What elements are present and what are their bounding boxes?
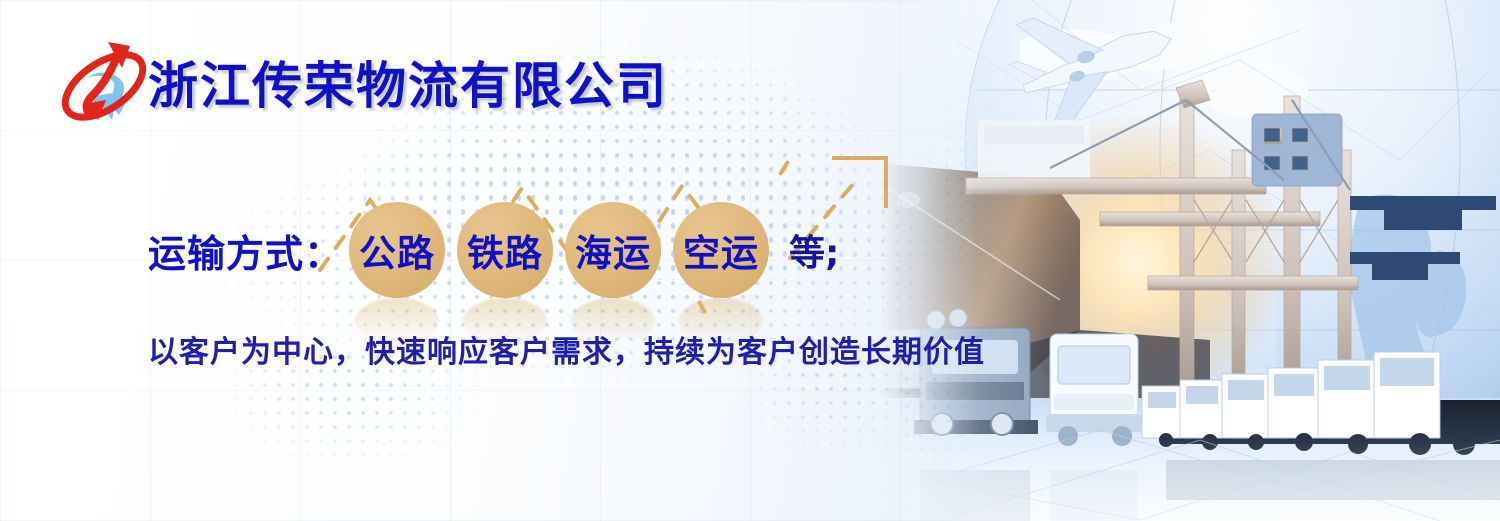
transport-mode-label: 铁路 — [467, 223, 543, 277]
page-title: 浙江传荣物流有限公司 — [148, 46, 668, 118]
transport-mode-road[interactable]: 公路 — [349, 202, 445, 298]
transport-mode-label: 海运 — [575, 223, 651, 277]
transport-label: 运输方式： — [148, 223, 343, 278]
swoosh-arrow-logo-icon — [52, 34, 156, 138]
logistics-photo-collage — [880, 0, 1500, 521]
transport-mode-air[interactable]: 空运 — [673, 202, 769, 298]
transport-mode-rail[interactable]: 铁路 — [457, 202, 553, 298]
company-logo — [52, 34, 156, 138]
transport-mode-label: 公路 — [359, 223, 435, 277]
transport-mode-label: 空运 — [683, 223, 759, 277]
transport-modes-row: 运输方式： 公路 铁路 海运 空运 等; — [148, 202, 839, 298]
transport-mode-sea[interactable]: 海运 — [565, 202, 661, 298]
transport-suffix: 等; — [789, 224, 839, 276]
logistics-banner: 浙江传荣物流有限公司 运输方式： 公路 铁路 海运 空运 等; 以客户为中心，快… — [0, 0, 1500, 521]
truck-fleet-icon — [1046, 334, 1142, 446]
tagline: 以客户为中心，快速响应客户需求，持续为客户创造长期价值 — [148, 327, 985, 371]
